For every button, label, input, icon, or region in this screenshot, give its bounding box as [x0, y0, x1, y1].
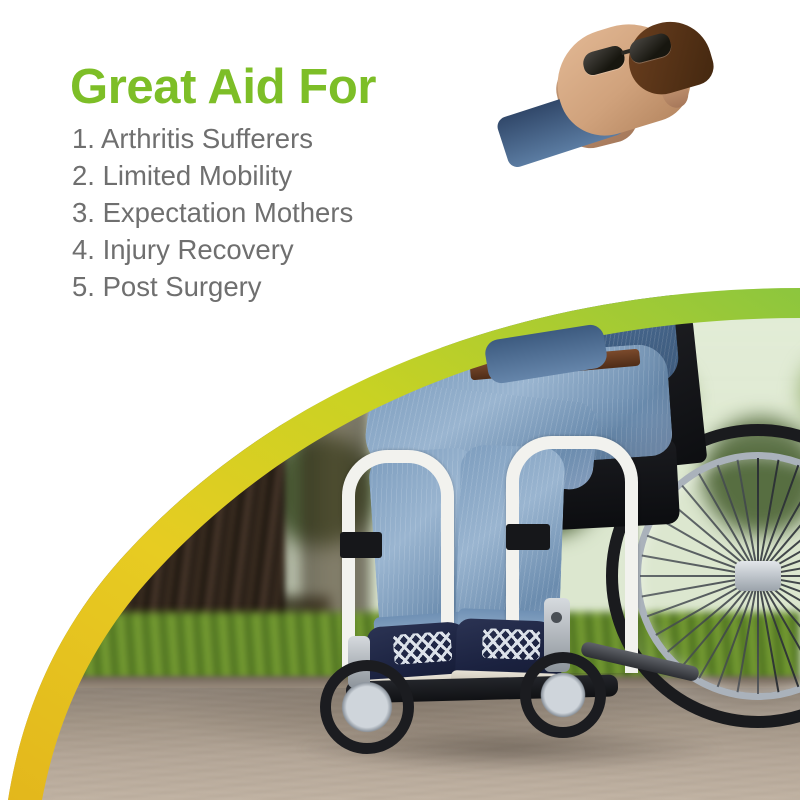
list-item-number: 2.: [72, 158, 95, 195]
aid-list: 1. Arthritis Sufferers2. Limited Mobilit…: [70, 121, 490, 306]
list-item: 2. Limited Mobility: [72, 158, 490, 195]
list-item-label: Expectation Mothers: [95, 197, 353, 228]
list-item-label: Post Surgery: [95, 271, 262, 302]
list-item: 5. Post Surgery: [72, 269, 490, 306]
list-item-number: 4.: [72, 232, 95, 269]
list-item-number: 1.: [72, 121, 95, 158]
page-title: Great Aid For: [70, 62, 490, 113]
list-item: 1. Arthritis Sufferers: [72, 121, 490, 158]
list-item: 4. Injury Recovery: [72, 232, 490, 269]
copy-block: Great Aid For 1. Arthritis Sufferers2. L…: [70, 62, 490, 306]
list-item-label: Arthritis Sufferers: [95, 123, 313, 154]
list-item-label: Limited Mobility: [95, 160, 292, 191]
list-item-number: 3.: [72, 195, 95, 232]
promo-banner: Great Aid For 1. Arthritis Sufferers2. L…: [0, 0, 800, 800]
list-item-label: Injury Recovery: [95, 234, 294, 265]
list-item-number: 5.: [72, 269, 95, 306]
list-item: 3. Expectation Mothers: [72, 195, 490, 232]
